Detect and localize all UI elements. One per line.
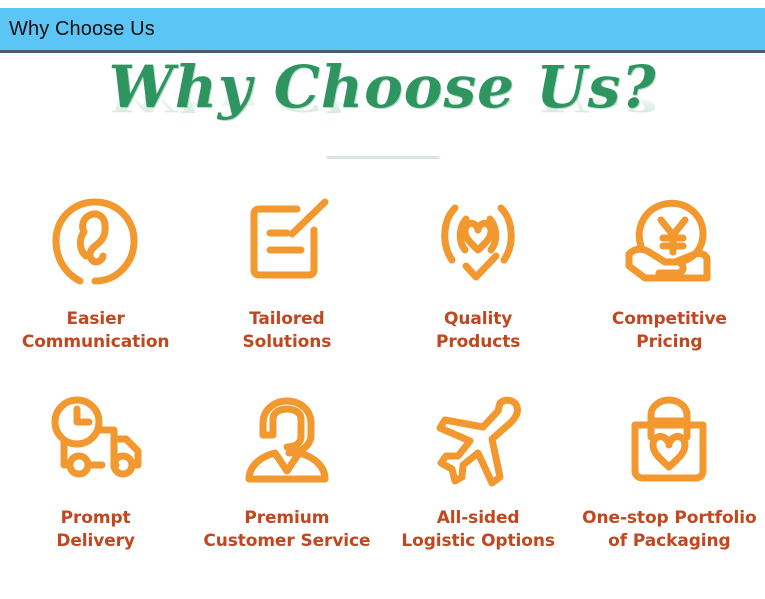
feature-competitive-pricing[interactable]: Competitive Pricing <box>574 194 765 353</box>
feature-packaging-portfolio[interactable]: One-stop Portfolio of Packaging <box>574 393 765 552</box>
feature-label: Tailored Solutions <box>242 308 331 353</box>
ear-in-circle-icon <box>50 194 142 290</box>
feature-customer-service[interactable]: Premium Customer Service <box>191 393 382 552</box>
hero-banner: Why Choose Us? Why Choose Us? <box>0 56 765 164</box>
feature-label: One-stop Portfolio of Packaging <box>582 507 756 552</box>
shopping-bag-heart-icon <box>621 393 717 489</box>
feature-row-2: Prompt Delivery Premium Customer Service <box>0 393 765 552</box>
feature-easier-communication[interactable]: Easier Communication <box>0 194 191 353</box>
feature-label: Premium Customer Service <box>203 507 370 552</box>
feature-prompt-delivery[interactable]: Prompt Delivery <box>0 393 191 552</box>
delivery-truck-clock-icon <box>44 393 148 489</box>
feature-tailored-solutions[interactable]: Tailored Solutions <box>191 194 382 353</box>
window-header-bar: Why Choose Us <box>0 8 765 53</box>
page-title: Why Choose Us? <box>103 58 663 116</box>
document-pencil-icon <box>239 194 335 290</box>
window-title: Why Choose Us <box>0 19 155 39</box>
hand-holding-yen-coin-icon <box>619 194 719 290</box>
feature-quality-products[interactable]: Quality Products <box>383 194 574 353</box>
heart-signal-check-icon <box>428 194 528 290</box>
feature-label: Competitive Pricing <box>612 308 727 353</box>
feature-label: All-sided Logistic Options <box>401 507 554 552</box>
feature-logistic-options[interactable]: All-sided Logistic Options <box>383 393 574 552</box>
hero-divider <box>326 156 439 159</box>
feature-label: Prompt Delivery <box>56 507 135 552</box>
feature-row-1: Easier Communication Tailored Solutions <box>0 194 765 353</box>
airplane-icon <box>430 393 526 489</box>
feature-label: Quality Products <box>436 308 520 353</box>
headset-agent-icon <box>237 393 337 489</box>
page-content: Why Choose Us? Why Choose Us? Easier Com… <box>0 56 765 599</box>
hero-title-wrapper: Why Choose Us? Why Choose Us? <box>103 58 663 116</box>
feature-label: Easier Communication <box>22 308 170 353</box>
